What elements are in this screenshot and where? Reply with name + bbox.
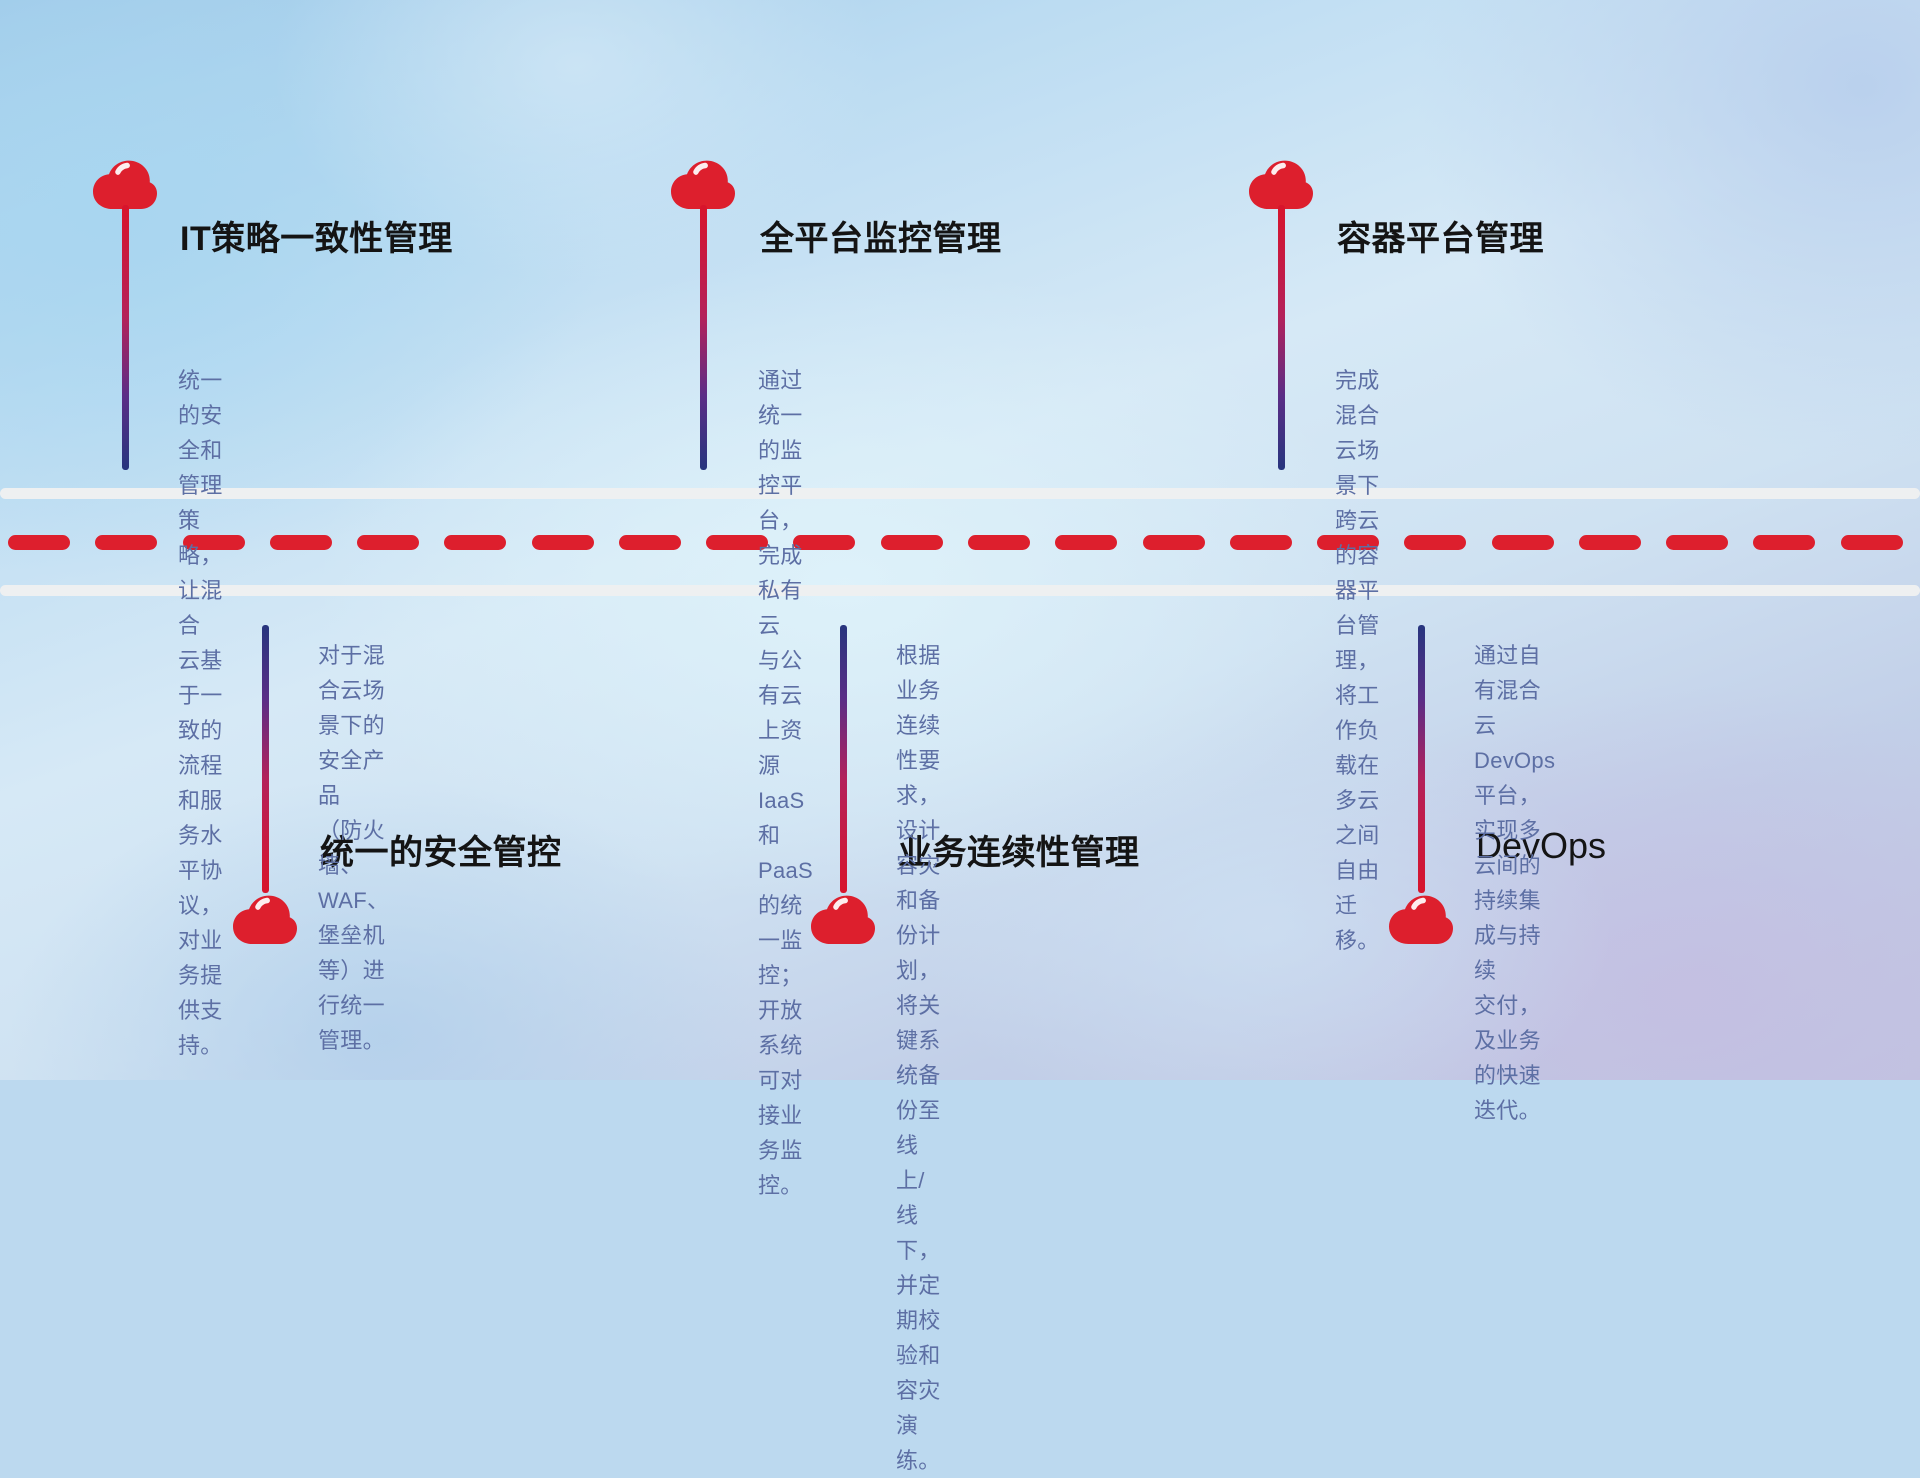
milestone-stem xyxy=(1418,625,1425,893)
road-dash xyxy=(1404,535,1466,550)
milestone-stem xyxy=(840,625,847,893)
milestone-stem xyxy=(122,205,129,470)
milestone-description: 通过统一的监控平台，完成私有云 与公有云上资源IaaS和PaaS的统 一监控；开… xyxy=(758,363,813,1203)
road-dash xyxy=(968,535,1030,550)
milestone-stem xyxy=(1278,205,1285,470)
road-dash xyxy=(8,535,70,550)
road-dash xyxy=(444,535,506,550)
road-line-top xyxy=(0,488,1920,499)
milestone-stem xyxy=(262,625,269,893)
road-dash xyxy=(357,535,419,550)
road-line-bottom xyxy=(0,585,1920,596)
road-dash xyxy=(881,535,943,550)
milestone-description: 对于混合云场景下的安全产品 （防火墙、WAF、堡垒机等）进 行统一管理。 xyxy=(318,638,389,1058)
road-dash xyxy=(1579,535,1641,550)
road-divider xyxy=(0,488,1920,596)
road-dash xyxy=(1143,535,1205,550)
milestone-description: 统一的安全和管理策略，让混合 云基于一致的流程和服务水平协 议，对业务提供支持。 xyxy=(178,363,223,1063)
milestone-description: 完成混合云场景下跨云的容器平 台管理，将工作负载在多云之间 自由迁移。 xyxy=(1335,363,1380,958)
road-dash xyxy=(95,535,157,550)
road-center-dashed-line xyxy=(0,535,1920,550)
road-dash xyxy=(532,535,594,550)
road-dash xyxy=(1230,535,1292,550)
road-dash xyxy=(1492,535,1554,550)
road-dash xyxy=(270,535,332,550)
milestone-description: 通过自有混合云DevOps平台， 实现多云间的持续集成与持续 交付，及业务的快速… xyxy=(1474,638,1555,1128)
road-dash xyxy=(1666,535,1728,550)
milestone-stem xyxy=(700,205,707,470)
milestone-title: 全平台监控管理 xyxy=(760,211,1002,260)
road-dash xyxy=(619,535,681,550)
milestone-title: 容器平台管理 xyxy=(1337,211,1544,260)
milestone-description: 根据业务连续性要求，设计容灾 和备份计划，将关键系统备份至 线上/线下，并定期校… xyxy=(896,638,941,1478)
road-dash xyxy=(1841,535,1903,550)
road-dash xyxy=(1055,535,1117,550)
road-dash xyxy=(1753,535,1815,550)
milestone-title: IT策略一致性管理 xyxy=(180,211,453,260)
